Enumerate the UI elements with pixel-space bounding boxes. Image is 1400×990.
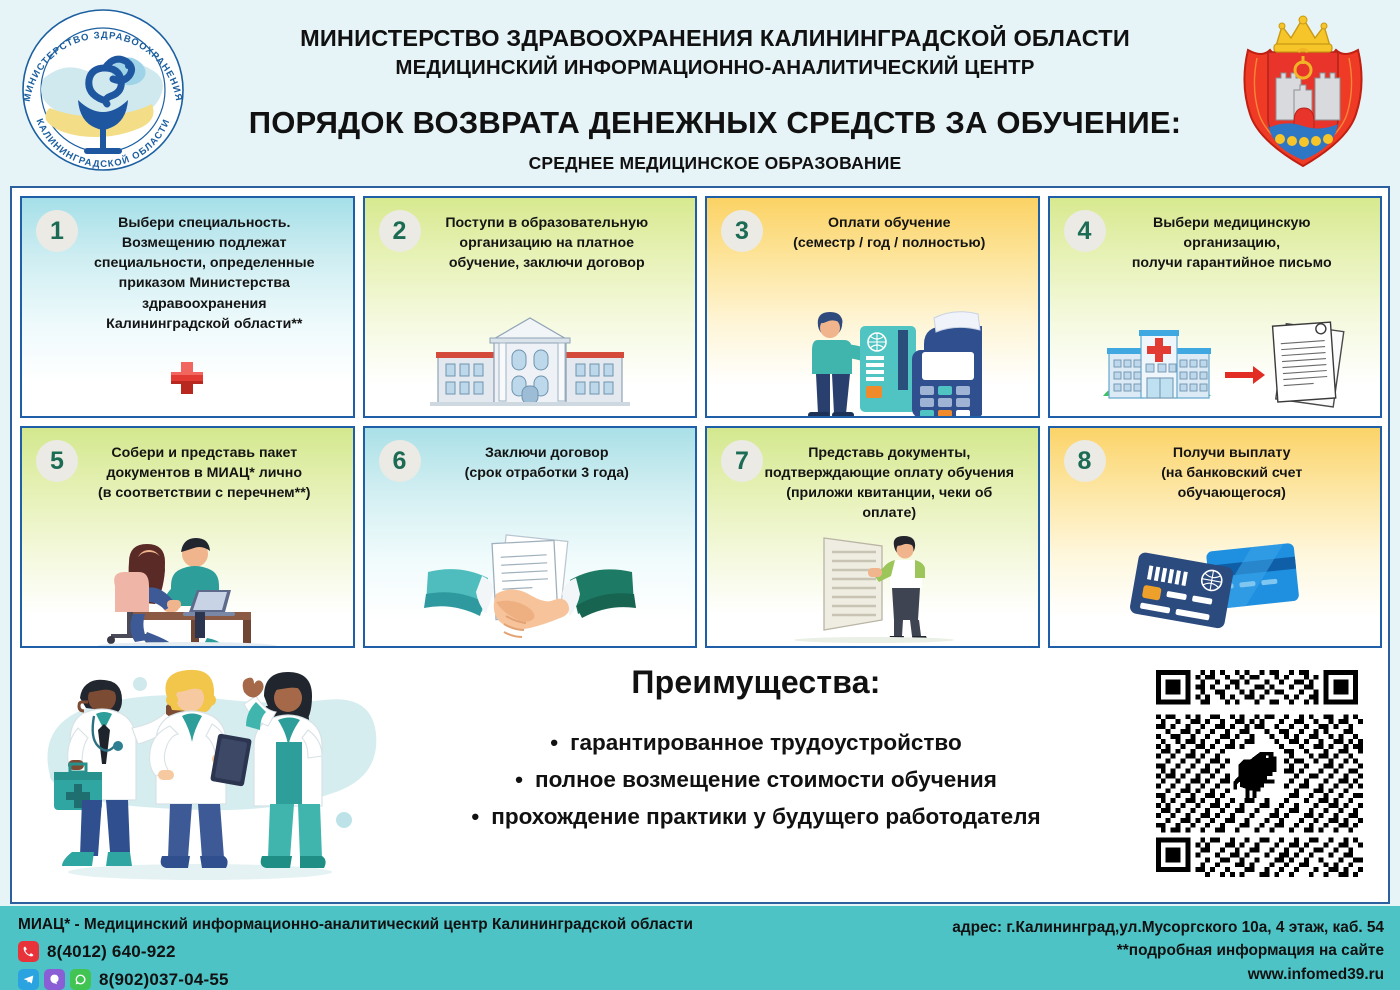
phone-icon	[18, 941, 39, 962]
step-card-2[interactable]: 2 Поступи в образовательную организацию …	[363, 196, 698, 418]
ministry-name: МИНИСТЕРСТВО ЗДРАВООХРАНЕНИЯ КАЛИНИНГРАД…	[300, 24, 1130, 53]
list-item: прохождение практики у будущего работода…	[471, 804, 1040, 830]
three-doctors-illustration	[20, 650, 380, 890]
bank-cards-icon	[1050, 524, 1381, 642]
step-number-badge: 3	[721, 210, 763, 252]
address: адрес: г.Калининград,ул.Мусоргского 10а,…	[952, 916, 1384, 939]
kaliningrad-region-coat-of-arms	[1228, 6, 1378, 174]
steps-grid: 1 Выбери специальность. Возмещению подле…	[20, 196, 1382, 648]
step-number-badge: 1	[36, 210, 78, 252]
step-card-6[interactable]: 6 Заключи договор (срок отработки 3 года…	[363, 426, 698, 648]
whatsapp-icon	[70, 969, 91, 990]
advantages-title: Преимущества:	[631, 664, 880, 701]
advantages-block: Преимущества: гарантированное трудоустро…	[380, 650, 1132, 896]
person-with-document-icon	[707, 524, 1038, 642]
step-text: Выбери специальность. Возмещению подлежа…	[68, 213, 341, 334]
step-text: Собери и представь пакет документов в МИ…	[68, 443, 341, 503]
step-text: Получи выплату (на банковский счет обуча…	[1096, 443, 1369, 503]
step-card-7[interactable]: 7 Представь документы, подтверждающие оп…	[705, 426, 1040, 648]
poster-root: МИНИСТЕРСТВО ЗДРАВООХРАНЕНИЯ КАЛИНИНГРАД…	[0, 0, 1400, 990]
website-link[interactable]: www.infomed39.ru	[952, 963, 1384, 986]
ministry-health-kaliningrad-emblem: МИНИСТЕРСТВО ЗДРАВООХРАНЕНИЯ КАЛИНИНГРАД…	[8, 4, 198, 174]
step-card-5[interactable]: 5 Собери и представь пакет документов в …	[20, 426, 355, 648]
telegram-icon	[18, 969, 39, 990]
viber-icon	[44, 969, 65, 990]
steps-row-1: 1 Выбери специальность. Возмещению подле…	[20, 196, 1382, 418]
hospital-to-letter-icon	[1050, 294, 1381, 412]
step-card-3[interactable]: 3 Оплати обучение (семестр / год / полно…	[705, 196, 1040, 418]
step-number-badge: 7	[721, 440, 763, 482]
phone-mobile-row: 8(902)037-04-55	[18, 969, 693, 990]
step-card-8[interactable]: 8 Получи выплату (на банковский счет обу…	[1048, 426, 1383, 648]
step-card-1[interactable]: 1 Выбери специальность. Возмещению подле…	[20, 196, 355, 418]
page-title: ПОРЯДОК ВОЗВРАТА ДЕНЕЖНЫХ СРЕДСТВ ЗА ОБУ…	[249, 105, 1182, 141]
bottom-band: Преимущества: гарантированное трудоустро…	[20, 650, 1382, 896]
qr-code-with-dinosaur-logo[interactable]	[1146, 660, 1368, 882]
step-text: Оплати обучение (семестр / год / полност…	[753, 213, 1026, 253]
step-text: Поступи в образовательную организацию на…	[411, 213, 684, 273]
footer-right: адрес: г.Калининград,ул.Мусоргского 10а,…	[952, 916, 1384, 986]
poster-header: МИНИСТЕРСТВО ЗДРАВООХРАНЕНИЯ КАЛИНИНГРАД…	[0, 0, 1400, 185]
steps-row-2: 5 Собери и представь пакет документов в …	[20, 426, 1382, 648]
poster-footer: МИАЦ* - Медицинский информационно-аналит…	[0, 906, 1400, 990]
university-building-icon	[365, 294, 696, 412]
card-payment-terminal-icon	[707, 294, 1038, 412]
phone-main-row: 8(4012) 640-922	[18, 941, 693, 962]
step-number-badge: 8	[1064, 440, 1106, 482]
office-consultation-icon	[22, 524, 353, 642]
footer-left: МИАЦ* - Медицинский информационно-аналит…	[18, 916, 693, 990]
step-number-badge: 4	[1064, 210, 1106, 252]
handshake-contract-icon	[365, 524, 696, 642]
step-text: Выбери медицинскую организацию, получи г…	[1096, 213, 1369, 273]
list-item: гарантированное трудоустройство	[471, 730, 1040, 756]
advantages-list: гарантированное трудоустройство полное в…	[471, 719, 1040, 841]
step-card-4[interactable]: 4 Выбери медицинскую организацию, получи…	[1048, 196, 1383, 418]
phone-mobile[interactable]: 8(902)037-04-55	[99, 970, 229, 990]
step-number-badge: 2	[379, 210, 421, 252]
main-panel: 1 Выбери специальность. Возмещению подле…	[10, 186, 1390, 904]
center-name: МЕДИЦИНСКИЙ ИНФОРМАЦИОННО-АНАЛИТИЧЕСКИЙ …	[395, 55, 1034, 82]
step-number-badge: 6	[379, 440, 421, 482]
step-text: Представь документы, подтверждающие опла…	[753, 443, 1026, 524]
qr-code-area	[1132, 650, 1382, 896]
step-text: Заключи договор (срок отработки 3 года)	[411, 443, 684, 483]
info-note: **подробная информация на сайте	[952, 939, 1384, 962]
step-number-badge: 5	[36, 440, 78, 482]
page-subtitle: СРЕДНЕЕ МЕДИЦИНСКОЕ ОБРАЗОВАНИЕ	[529, 153, 902, 174]
list-item: полное возмещение стоимости обучения	[471, 767, 1040, 793]
header-text-block: МИНИСТЕРСТВО ЗДРАВООХРАНЕНИЯ КАЛИНИНГРАД…	[200, 0, 1230, 185]
phone-main[interactable]: 8(4012) 640-922	[47, 942, 176, 962]
miac-note: МИАЦ* - Медицинский информационно-аналит…	[18, 916, 693, 934]
